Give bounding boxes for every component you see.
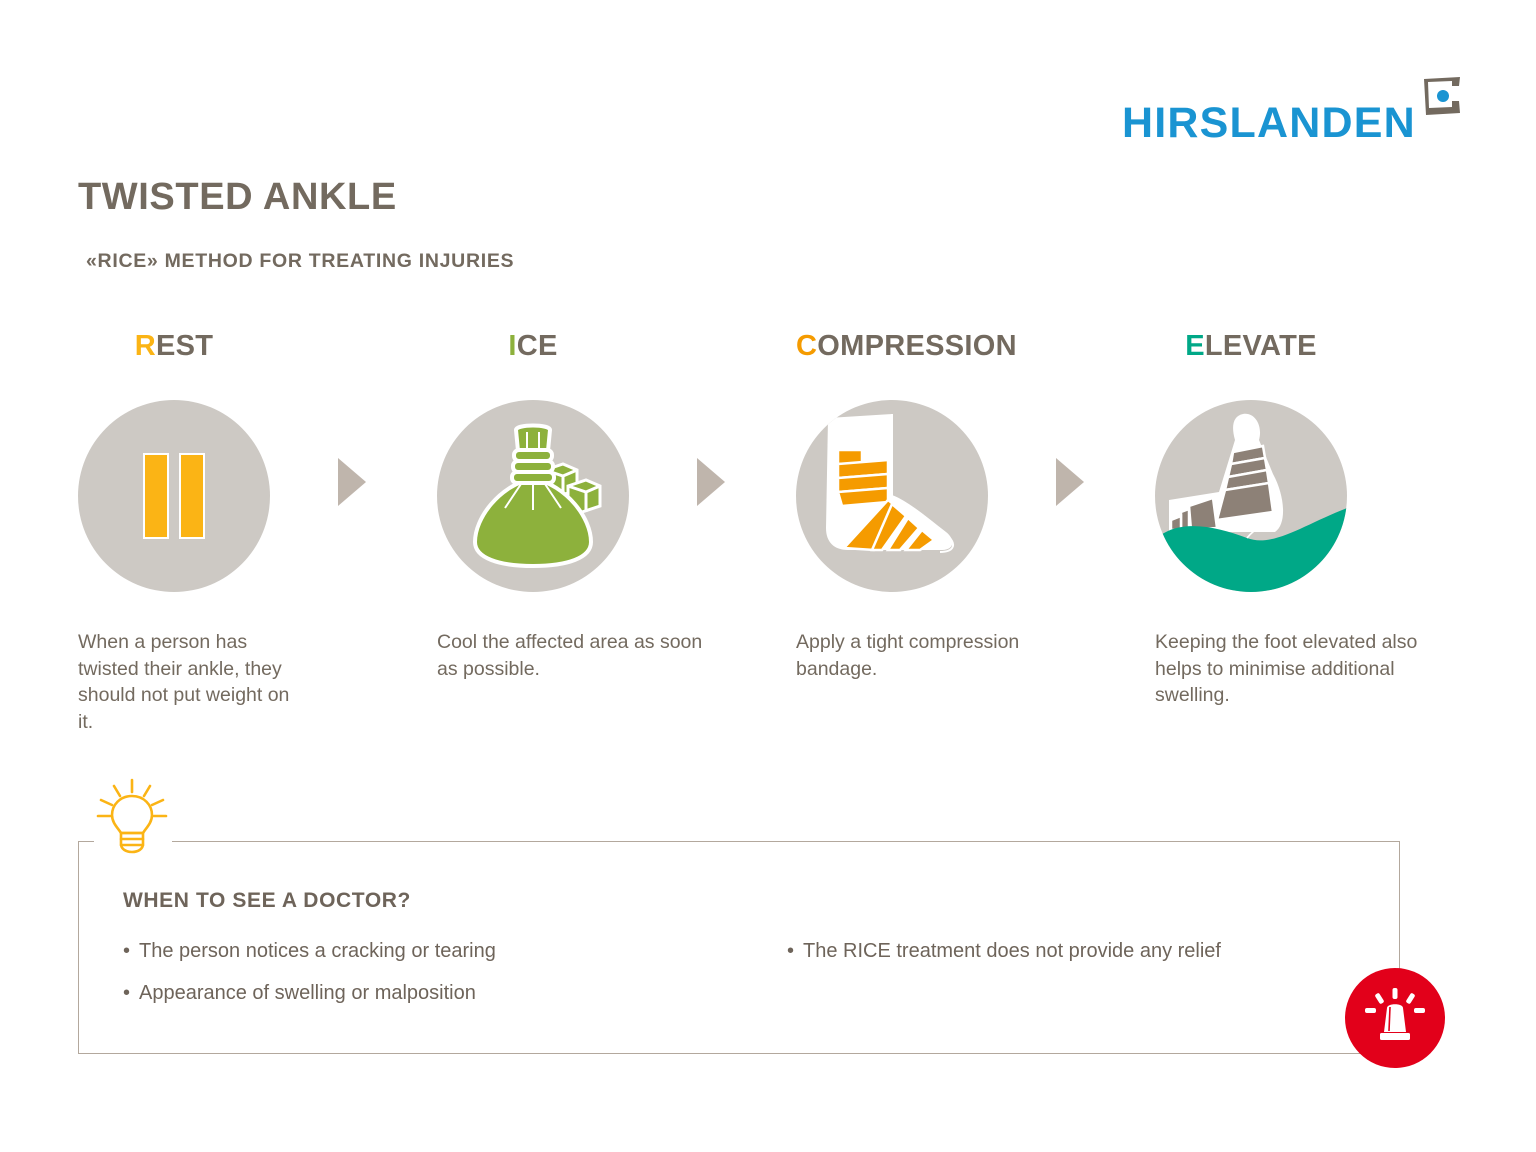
- step-elevate: ELEVATE: [1155, 330, 1455, 709]
- step-rest-heading: REST: [78, 330, 270, 372]
- step-compression-initial: C: [796, 330, 817, 362]
- step-elevate-heading: ELEVATE: [1155, 330, 1347, 372]
- lightbulb-icon: [96, 778, 168, 854]
- page-title: TWISTED ANKLE: [78, 176, 397, 219]
- info-bullets-right: •The RICE treatment does not provide any…: [787, 941, 1221, 983]
- list-item-text: The RICE treatment does not provide any …: [803, 940, 1221, 962]
- elevated-foot-on-cushion-icon: [1155, 400, 1347, 592]
- triangle-right-icon-2: [697, 458, 725, 506]
- pause-bar-left: [143, 453, 169, 539]
- step-rest-initial: R: [135, 330, 156, 362]
- step-elevate-label: LEVATE: [1205, 330, 1317, 362]
- step-ice-heading: ICE: [437, 330, 629, 372]
- step-rest: REST When a person has twisted their ank…: [78, 330, 378, 735]
- info-bullets-left: •The person notices a cracking or tearin…: [123, 941, 496, 1025]
- pause-bars-icon: [143, 453, 205, 539]
- step-compression-label: OMPRESSION: [817, 330, 1017, 362]
- when-to-see-doctor-box: WHEN TO SEE A DOCTOR? •The person notice…: [78, 841, 1400, 1054]
- step-rest-icon-circle: [78, 400, 270, 592]
- step-ice-initial: I: [508, 330, 516, 362]
- brand-wordmark: HIRSLANDEN: [1122, 102, 1416, 145]
- step-ice-icon-circle: [437, 400, 629, 592]
- brand-logo: HIRSLANDEN: [1122, 75, 1462, 150]
- pause-bar-right: [179, 453, 205, 539]
- step-compression-icon-circle: [796, 400, 988, 592]
- bullet-marker: •: [123, 983, 139, 1003]
- step-compression-heading: COMPRESSION: [796, 330, 1096, 372]
- step-elevate-description: Keeping the foot elevated also helps to …: [1155, 629, 1420, 709]
- info-box-title: WHEN TO SEE A DOCTOR?: [123, 889, 411, 913]
- step-elevate-initial: E: [1185, 330, 1205, 362]
- bracket-square-dot-icon: [1419, 75, 1465, 119]
- list-item: •Appearance of swelling or malposition: [123, 983, 496, 1003]
- page-subtitle: «RICE» METHOD FOR TREATING INJURIES: [86, 250, 514, 273]
- step-ice-label: CE: [517, 330, 558, 362]
- emergency-siren-badge: [1345, 968, 1445, 1068]
- step-ice-description: Cool the affected area as soon as possib…: [437, 629, 707, 682]
- step-elevate-icon-circle: [1155, 400, 1347, 592]
- emergency-siren-icon: [1365, 988, 1425, 1048]
- list-item-text: The person notices a cracking or tearing: [139, 940, 496, 962]
- step-rest-label: EST: [156, 330, 213, 362]
- step-rest-description: When a person has twisted their ankle, t…: [78, 629, 308, 735]
- triangle-right-icon-1: [338, 458, 366, 506]
- list-item: •The RICE treatment does not provide any…: [787, 941, 1221, 961]
- step-compression: COMPRESSION: [796, 330, 1096, 682]
- bandaged-foot-icon: [796, 400, 988, 592]
- bullet-marker: •: [787, 941, 803, 961]
- step-compression-description: Apply a tight compression bandage.: [796, 629, 1066, 682]
- triangle-right-icon-3: [1056, 458, 1084, 506]
- rice-steps: REST When a person has twisted their ank…: [0, 330, 1536, 750]
- step-ice: ICE: [437, 330, 737, 682]
- bullet-marker: •: [123, 941, 139, 961]
- list-item-text: Appearance of swelling or malposition: [139, 982, 476, 1004]
- ice-bag-with-cubes-icon: [437, 400, 629, 592]
- list-item: •The person notices a cracking or tearin…: [123, 941, 496, 961]
- infographic-page: HIRSLANDEN TWISTED ANKLE «RICE» METHOD F…: [0, 0, 1536, 1152]
